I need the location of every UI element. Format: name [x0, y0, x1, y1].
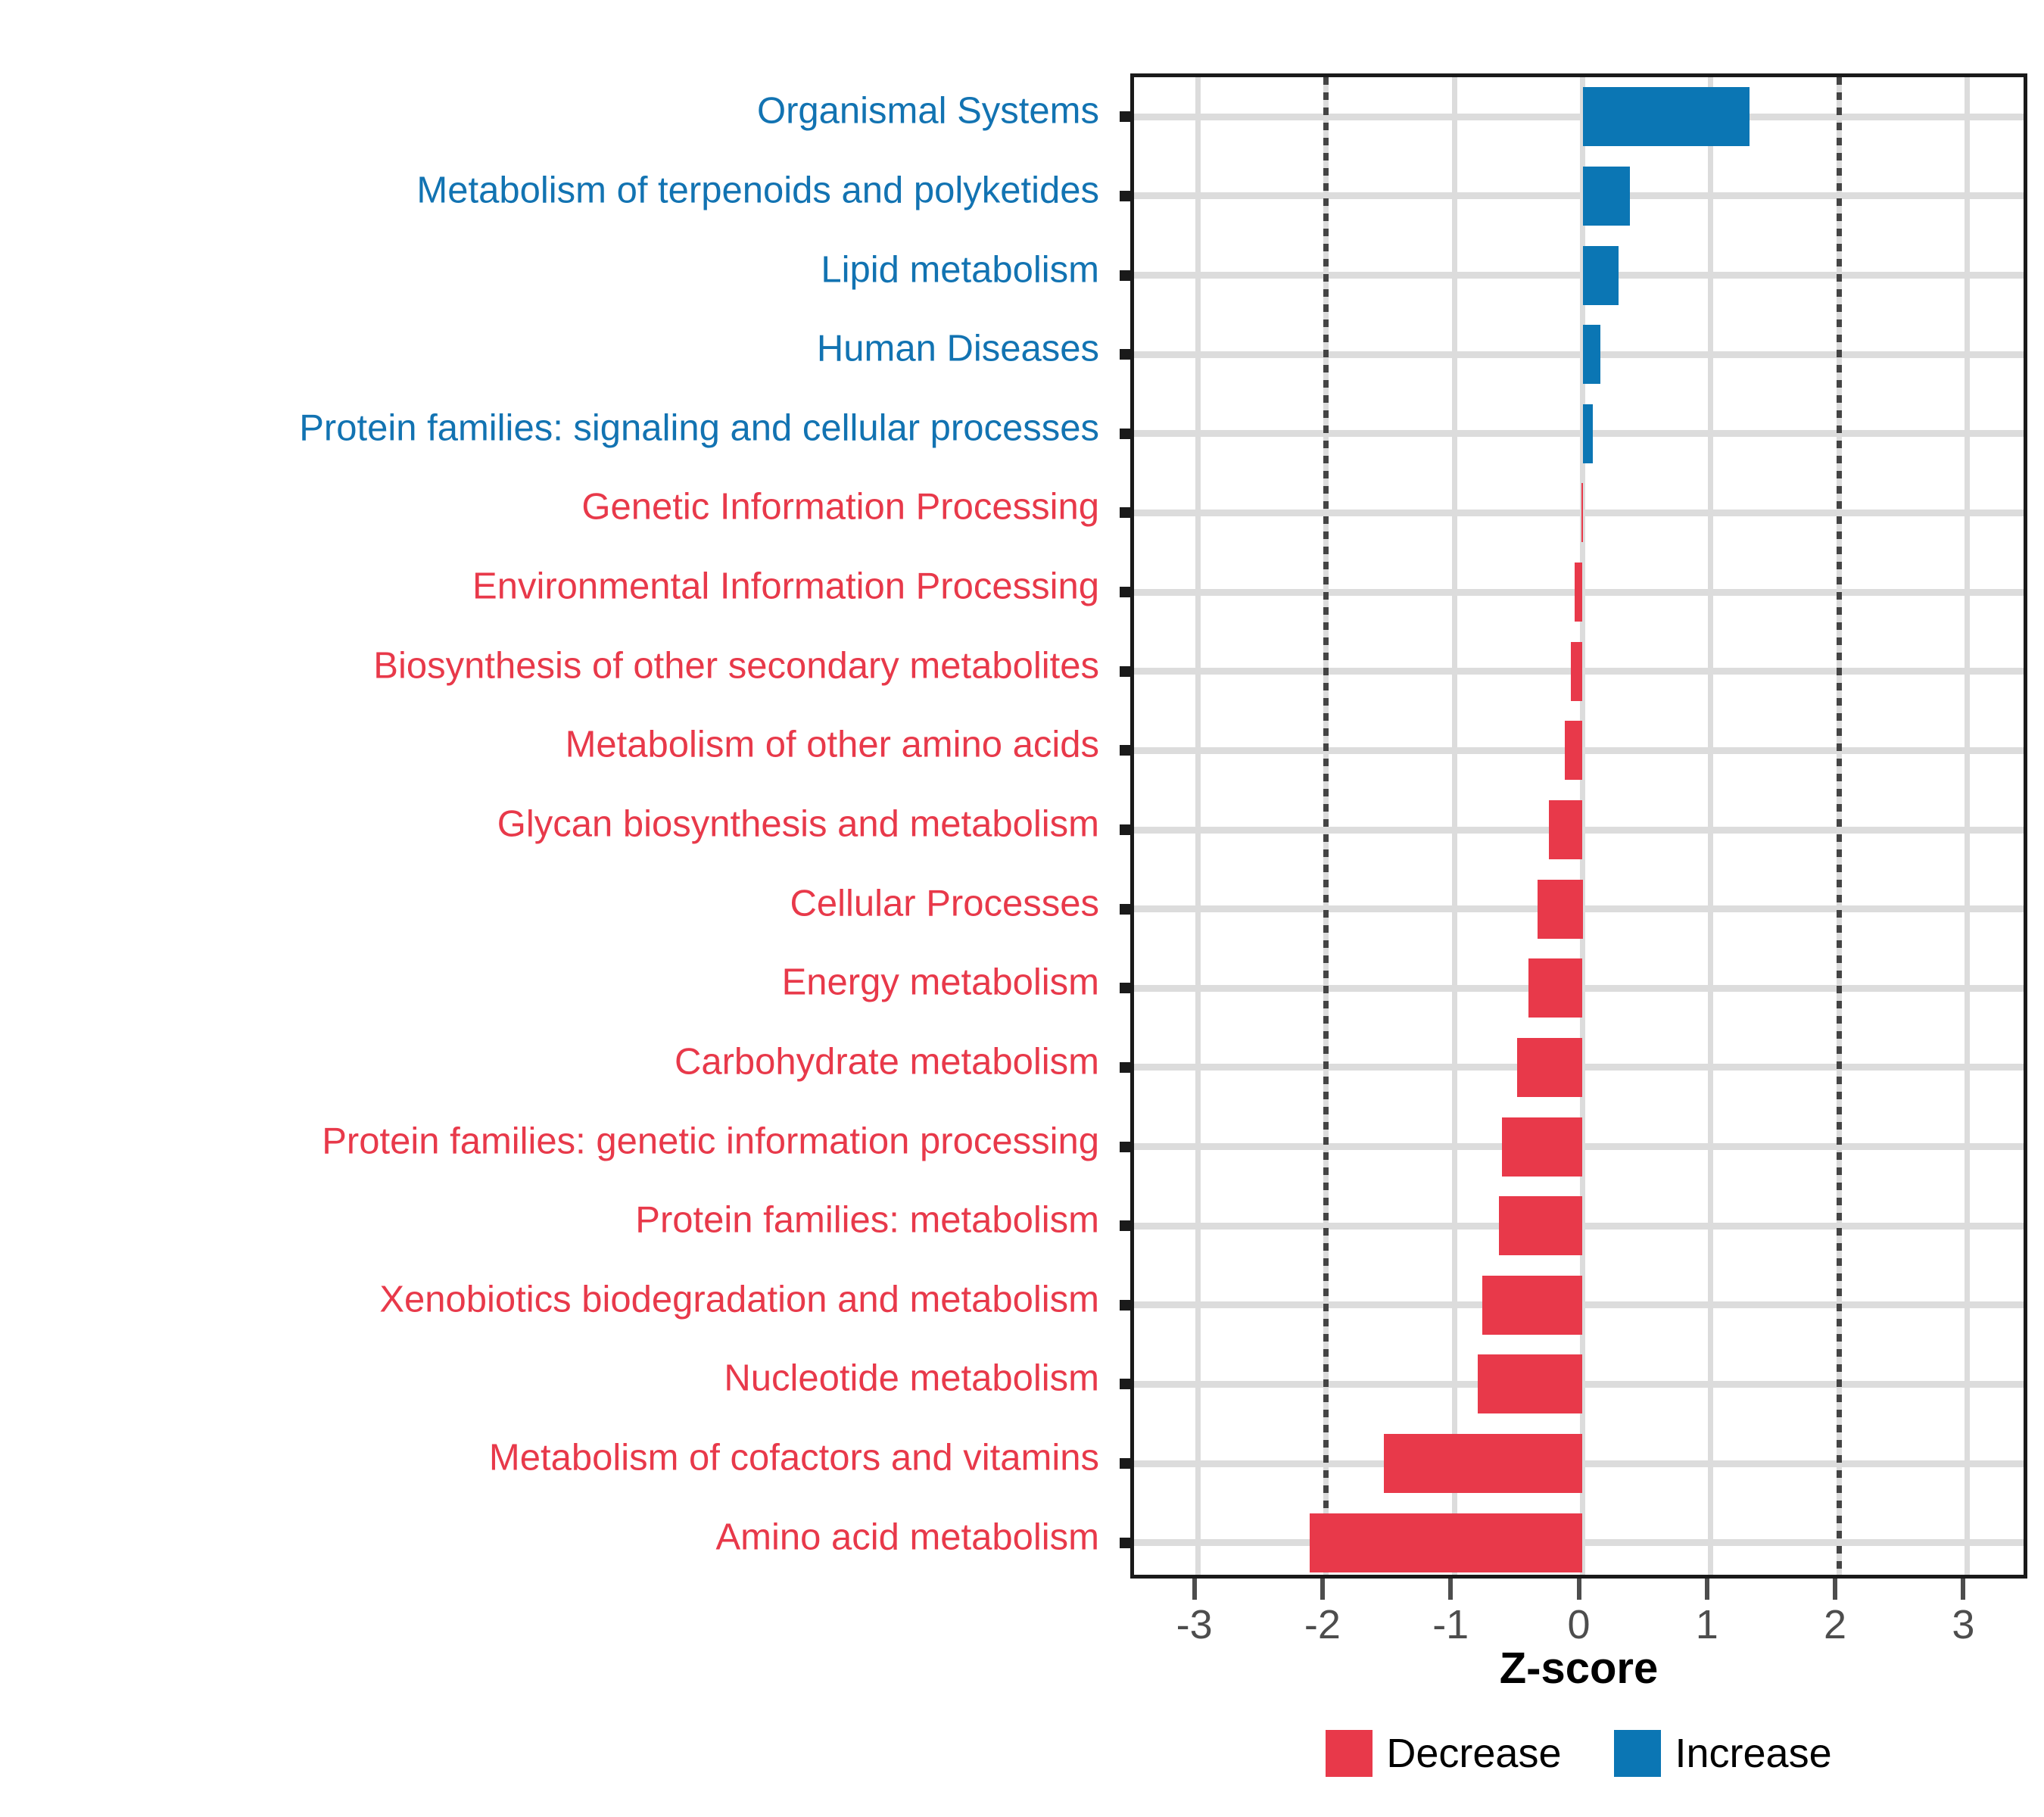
y-axis-tick — [1120, 1062, 1134, 1073]
category-label: Protein families: genetic information pr… — [322, 1123, 1099, 1160]
bar — [1549, 800, 1582, 859]
y-axis-tick — [1120, 191, 1134, 201]
plot-panel — [1130, 73, 2027, 1579]
legend-label: Increase — [1675, 1730, 1831, 1777]
category-label: Biosynthesis of other secondary metaboli… — [373, 647, 1099, 684]
y-axis-tick — [1120, 1458, 1134, 1469]
x-axis-tick — [1577, 1579, 1581, 1600]
bar — [1565, 721, 1583, 780]
x-axis-tick-label: 3 — [1952, 1601, 1974, 1648]
bar — [1583, 404, 1594, 463]
bar — [1575, 563, 1582, 622]
y-axis-tick — [1120, 587, 1134, 597]
x-axis-tick — [1320, 1579, 1325, 1600]
bar — [1583, 246, 1619, 305]
category-label: Environmental Information Processing — [472, 569, 1099, 606]
category-label: Energy metabolism — [782, 965, 1099, 1002]
legend: DecreaseIncrease — [1130, 1730, 2027, 1777]
legend-item[interactable]: Decrease — [1326, 1730, 1561, 1777]
bar — [1528, 958, 1582, 1018]
category-label: Metabolism of cofactors and vitamins — [489, 1440, 1099, 1477]
category-label: Organismal Systems — [757, 93, 1099, 130]
category-label: Metabolism of other amino acids — [566, 727, 1099, 764]
bar — [1310, 1513, 1583, 1572]
y-axis-tick — [1120, 111, 1134, 122]
category-label: Xenobiotics biodegradation and metabolis… — [379, 1281, 1099, 1318]
bar — [1583, 325, 1601, 384]
y-axis-tick — [1120, 1379, 1134, 1389]
y-axis-tick — [1120, 1300, 1134, 1311]
bar — [1502, 1117, 1583, 1177]
y-gridline — [1134, 114, 2024, 120]
category-label: Metabolism of terpenoids and polyketides — [416, 172, 1099, 209]
category-label: Protein families: signaling and cellular… — [299, 410, 1099, 447]
y-axis-tick — [1120, 349, 1134, 360]
legend-item[interactable]: Increase — [1614, 1730, 1831, 1777]
category-label: Human Diseases — [817, 331, 1099, 368]
bar — [1517, 1038, 1582, 1097]
y-gridline — [1134, 192, 2024, 199]
x-axis-tick-label: 1 — [1696, 1601, 1718, 1648]
y-gridline — [1134, 272, 2024, 279]
x-axis-tick — [1961, 1579, 1965, 1600]
x-axis-tick — [1448, 1579, 1453, 1600]
y-axis-tick — [1120, 429, 1134, 439]
y-axis-tick — [1120, 1220, 1134, 1231]
category-label: Glycan biosynthesis and metabolism — [497, 806, 1099, 843]
category-label: Lipid metabolism — [821, 251, 1099, 288]
bar — [1482, 1276, 1582, 1335]
y-axis-tick — [1120, 983, 1134, 993]
x-axis-tick-label: 2 — [1824, 1601, 1846, 1648]
x-axis-title: Z-score — [1130, 1643, 2027, 1694]
category-label: Cellular Processes — [790, 885, 1100, 922]
y-gridline — [1134, 351, 2024, 358]
y-axis-tick — [1120, 745, 1134, 756]
x-axis-tick — [1192, 1579, 1197, 1600]
legend-label: Decrease — [1386, 1730, 1561, 1777]
x-axis-tick-label: -2 — [1304, 1601, 1341, 1648]
category-label: Carbohydrate metabolism — [675, 1043, 1099, 1080]
y-axis-tick — [1120, 1142, 1134, 1152]
kegg-zscore-bar-chart: Organismal SystemsMetabolism of terpenoi… — [0, 0, 2044, 1817]
y-axis-tick — [1120, 270, 1134, 281]
y-gridline — [1134, 430, 2024, 437]
category-label: Nucleotide metabolism — [724, 1360, 1099, 1398]
y-axis-tick — [1120, 824, 1134, 835]
plot-inner — [1134, 77, 2024, 1575]
x-axis-tick — [1833, 1579, 1837, 1600]
y-axis-tick — [1120, 1538, 1134, 1548]
bar — [1478, 1354, 1583, 1413]
x-axis-tick-label: 0 — [1567, 1601, 1590, 1648]
legend-swatch — [1614, 1730, 1661, 1777]
y-axis-tick — [1120, 666, 1134, 677]
threshold-line — [1323, 77, 1329, 1575]
bar — [1384, 1434, 1582, 1493]
category-label: Amino acid metabolism — [715, 1519, 1099, 1556]
x-axis-tick-label: -1 — [1432, 1601, 1469, 1648]
bar — [1583, 87, 1750, 146]
bar — [1538, 880, 1582, 939]
category-label: Genetic Information Processing — [581, 489, 1099, 526]
y-axis-tick — [1120, 507, 1134, 518]
threshold-line — [1837, 77, 1842, 1575]
y-gridline — [1134, 510, 2024, 516]
category-label: Protein families: metabolism — [635, 1202, 1099, 1239]
legend-swatch — [1326, 1730, 1373, 1777]
bar — [1571, 642, 1582, 701]
x-axis-tick-label: -3 — [1176, 1601, 1213, 1648]
x-axis-tick — [1705, 1579, 1709, 1600]
bar — [1581, 483, 1583, 542]
y-axis-tick — [1120, 904, 1134, 915]
bar — [1583, 167, 1631, 226]
bar — [1499, 1196, 1582, 1255]
category-label-column: Organismal SystemsMetabolism of terpenoi… — [0, 72, 1120, 1579]
